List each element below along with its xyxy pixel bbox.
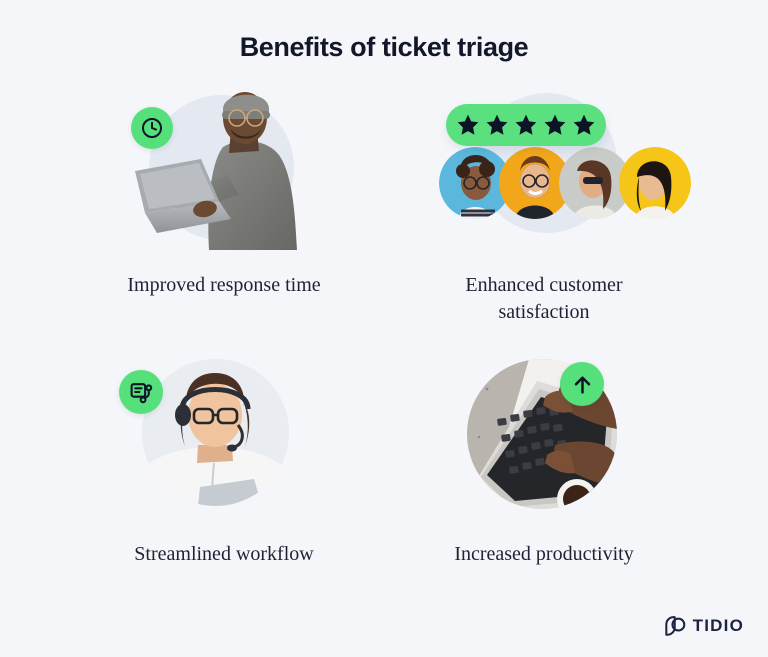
benefit-card-increased-productivity: Increased productivity — [384, 354, 704, 568]
arrow-up-icon — [570, 372, 595, 397]
support-agent-with-headset-photo — [142, 359, 289, 506]
benefit-caption: Increased productivity — [437, 541, 652, 568]
benefit-card-improved-response-time: Improved response time — [64, 85, 384, 326]
tidio-logo: TIDIO — [664, 615, 744, 637]
infographic-root: Benefits of ticket triage — [0, 0, 768, 657]
benefit-visual-3 — [109, 354, 339, 529]
workflow-icon-badge — [119, 370, 163, 414]
star-icon — [484, 112, 510, 138]
clock-icon — [140, 116, 164, 140]
tidio-logo-text: TIDIO — [693, 616, 744, 636]
benefit-visual-1 — [109, 85, 339, 260]
arrow-up-icon-badge — [560, 362, 604, 406]
page-title: Benefits of ticket triage — [240, 32, 529, 63]
workflow-icon — [129, 380, 154, 405]
star-icon — [455, 112, 481, 138]
tidio-logo-icon — [664, 615, 687, 637]
benefit-card-streamlined-workflow: Streamlined workflow — [64, 354, 384, 568]
customer-avatars-photo — [439, 147, 691, 219]
star-icon — [542, 112, 568, 138]
benefit-caption: Streamlined workflow — [117, 541, 332, 568]
benefit-caption: Enhanced customer satisfaction — [437, 272, 652, 326]
benefits-grid: Improved response time — [64, 85, 704, 568]
star-icon — [571, 112, 597, 138]
five-star-rating-badge — [446, 104, 606, 146]
circle-backdrop — [142, 359, 289, 506]
benefit-visual-4 — [429, 354, 659, 529]
avatar — [619, 147, 691, 219]
clock-icon-badge — [131, 107, 173, 149]
benefit-visual-2 — [429, 85, 659, 260]
star-icon — [513, 112, 539, 138]
benefit-caption: Improved response time — [117, 272, 332, 299]
benefit-card-enhanced-customer-satisfaction: Enhanced customer satisfaction — [384, 85, 704, 326]
